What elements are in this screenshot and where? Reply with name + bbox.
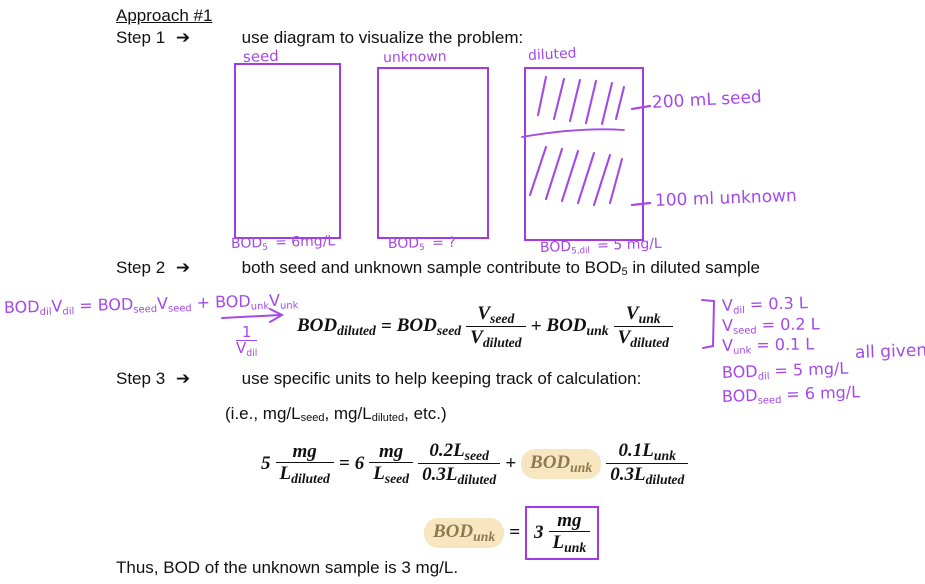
answer-equation: BODunk = 3 mg Lunk [424,506,599,560]
bod-subscript: 5 [262,243,268,253]
eq3-equals: = [339,453,350,475]
step-3-label: Step 3 [116,369,165,388]
margin-eq-sub: seed [133,304,157,316]
eq2-plus: + [531,316,542,338]
eq2-fraction-1: Vseed Vdiluted [466,303,525,350]
step-3-text: use specific units to help keeping track… [242,369,642,388]
given-value-4: BODseed = 6 mg/L [722,382,861,408]
eq3-plus: + [505,453,516,475]
step-2-text: both seed and unknown sample contribute … [242,258,622,277]
eq2-term1: BOD [397,315,437,336]
step-1-arrow-icon: ➔ [176,28,190,48]
diluted-annotation-seed: 200 mL seed [651,87,762,113]
margin-bod-sub: dil [40,307,52,318]
margin-v2: V [157,294,168,313]
margin-eq: = BOD [79,295,134,315]
margin-v: V [51,296,62,315]
eq3-coef-1: 5 [261,453,271,475]
eq2-fraction-2: Vunk Vdiluted [614,303,673,350]
answer-equals: = [509,522,520,544]
eq3-fraction-3: 0.2Lseed 0.3Ldiluted [418,440,500,487]
eq2-equals: = [381,316,392,338]
bod-value: = ? [432,235,456,251]
given-value-3: BODdil = 5 mg/L [722,359,849,384]
conclusion-text: Thus, BOD of the unknown sample is 3 mg/… [116,558,458,578]
eq3-fraction-2: mg Lseed [369,441,413,486]
eq3-fraction-4: 0.1Lunk 0.3Ldiluted [606,440,688,487]
margin-bod: BOD [4,297,40,317]
beaker-unknown [377,67,489,239]
beaker-diluted-label: diluted [528,45,577,64]
page-title: Approach #1 [116,6,212,26]
step-2-row: Step 2 ➔ both seed and unknown sample co… [116,258,760,278]
eq2-term1-sub: seed [437,323,461,338]
answer-unit: mg Lunk [549,510,591,555]
margin-frac-num: 1 [236,325,257,340]
beaker-unknown-label: unknown [383,49,447,66]
given-value-0: Vdil = 0.3 L [722,293,808,317]
margin-v2-sub: seed [168,303,192,315]
eq3-fraction-1: mg Ldiluted [276,441,334,486]
step-1-row: Step 1 ➔ use diagram to visualize the pr… [116,28,523,48]
eq2-lhs-sub: diluted [337,323,376,338]
eq3-highlighted-bod-unk: BODunk [521,449,601,479]
step-2-arrow-icon: ➔ [176,258,190,278]
bod-text: BOD [231,235,263,252]
step-1-text: use diagram to visualize the problem: [242,28,524,47]
beaker-diluted-bod: BOD5,dil = 5 mg/L [540,236,662,258]
equation-step-3: 5 mg Ldiluted = 6 mg Lseed 0.2Lseed 0.3L… [261,440,688,487]
bod-text: BOD [540,239,572,256]
step-1-label: Step 1 [116,28,165,47]
step-3-units-note: (i.e., mg/Lseed, mg/Ldiluted, etc.) [225,404,447,424]
bod-value: = 6mg/L [275,233,336,251]
eq2-lhs: BOD [297,315,337,336]
given-value-2: Vunk = 0.1 L [722,334,815,357]
answer-value: 3 [534,522,544,544]
beaker-seed-bod: BOD5 = 6mg/L [231,233,336,253]
beaker-unknown-bod: BOD5 = ? [388,235,456,254]
beaker-diluted-hatching [524,67,640,237]
given-caption: all given [855,340,925,363]
bod-text: BOD [388,235,419,252]
equation-step-2: BODdiluted = BODseed Vseed Vdiluted + BO… [297,303,673,350]
margin-v-sub: dil [62,306,74,317]
step-2-label: Step 2 [116,258,165,277]
step-3-row: Step 3 ➔ use specific units to help keep… [116,369,641,389]
eq2-term2-sub: unk [587,323,609,338]
answer-label-highlighted: BODunk [424,518,504,548]
margin-note-fraction: 1 Vdil [236,325,257,358]
bod-subscript: 5,dil [571,246,590,257]
eq2-term2: BOD [546,315,586,336]
step-3-arrow-icon: ➔ [176,369,190,389]
bod-subscript: 5 [419,243,425,253]
beaker-seed [234,63,341,239]
bod-value: = 5 mg/L [597,236,662,254]
answer-boxed-value: 3 mg Lunk [525,506,599,560]
step-2-text-post: in diluted sample [628,258,760,277]
eq3-coef-2: 6 [355,453,365,475]
margin-frac-den: Vdil [236,340,257,358]
given-values-bracket-icon [700,298,718,350]
diluted-annotation-unknown: 100 ml unknown [655,186,797,211]
